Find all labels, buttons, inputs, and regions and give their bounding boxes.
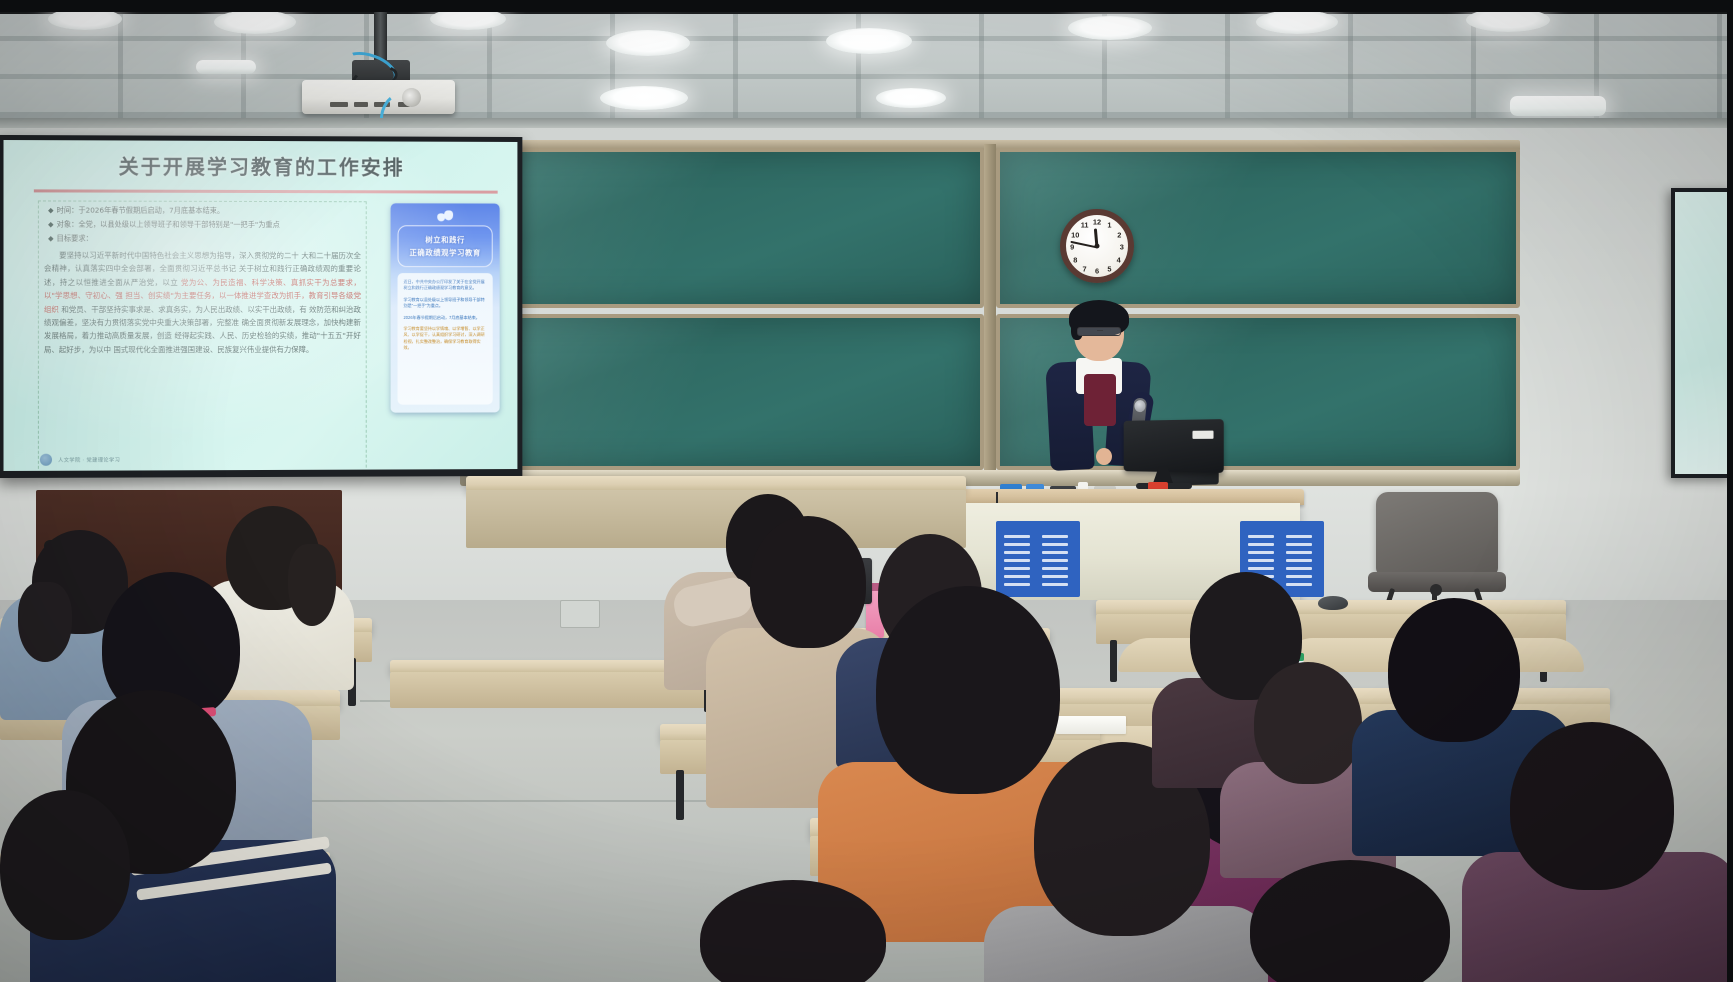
- clock-num-10: 10: [1071, 230, 1079, 239]
- clock-num-6: 6: [1095, 267, 1099, 276]
- clock-num-2: 2: [1117, 230, 1121, 239]
- wall-control-panel[interactable]: [560, 600, 600, 628]
- slide-paragraph: 要坚持以习近平新时代中国特色社会主义思想为指导，深入贯彻党的二十 大和二十届历次…: [44, 249, 361, 357]
- projector-port-1: [330, 102, 348, 107]
- podium-monitor: [1124, 419, 1224, 473]
- blackboard-panel-upper-left: [460, 148, 984, 308]
- attendee-head: [0, 790, 130, 940]
- slide-bullet-2: ◆对象：全党，以县处级以上领导班子和领导干部特别是"一把手"为重点: [48, 219, 367, 232]
- lecture-hall-photo: 12 1 2 3 4 5 6 7 8 9 10 11 关于开展学习教育的工作安排…: [0, 0, 1733, 982]
- bullet-marker-1: ◆: [48, 205, 54, 214]
- presenter-sweater: [1084, 374, 1116, 426]
- slide-title: 关于开展学习教育的工作安排: [4, 150, 518, 181]
- ceiling-light-6: [826, 28, 912, 54]
- bullet-marker-3: ◆: [48, 234, 54, 243]
- clock-num-3: 3: [1120, 243, 1124, 252]
- attendee-bottom-center: [700, 880, 920, 982]
- para-line-10: 国式现代化全面推进强国建设、民族复兴伟业提供有力保障。: [113, 345, 313, 354]
- ceiling-light-8: [1068, 16, 1152, 40]
- card-para-2: 学习教育以县处级以上领导班子和领导干部特别是"一把手"为重点。: [404, 297, 487, 310]
- ceiling-light-12: [196, 60, 256, 74]
- projector-port-2: [354, 102, 368, 107]
- card-para-3: 2026年春节假期后启动，7月底基本结束。: [404, 315, 487, 321]
- slide-title-underline: [34, 189, 498, 193]
- ceiling-light-9: [1256, 10, 1338, 34]
- card-body: 近日，中共中央办公厅印发了关于在全党开展树立和践行正确政绩观学习教育的意见。 学…: [398, 273, 493, 405]
- para-line-1: 要坚持以习近平新时代中国特色社会主义思想为指导，深入贯彻党的二十: [59, 251, 299, 260]
- attendee-head: [1250, 860, 1450, 982]
- bullet-marker-2: ◆: [48, 220, 54, 229]
- secondary-projection-screen: [1671, 188, 1733, 478]
- secondary-screen-surface: [1675, 192, 1733, 474]
- slide-bullet-list: ◆时间：于2026年春节假期后启动，7月底基本结束。 ◆对象：全党，以县处级以上…: [48, 204, 367, 247]
- bullet-text-3: 目标要求：: [57, 234, 93, 243]
- clock-num-5: 5: [1107, 264, 1111, 273]
- ceiling-light-4: [606, 30, 690, 56]
- attendee-far-right: [1462, 722, 1733, 982]
- ceiling-light-7: [876, 88, 946, 108]
- blackboard-panel-lower-left: [460, 314, 984, 470]
- wall-clock: 12 1 2 3 4 5 6 7 8 9 10 11: [1060, 209, 1134, 283]
- bullet-text-2: 对象：全党，以县处级以上领导班子和领导干部特别是"一把手"为重点: [57, 220, 280, 229]
- clock-num-7: 7: [1083, 264, 1087, 273]
- slide-footer-text: 人文学院 · 党建理论学习: [58, 456, 120, 463]
- ceiling-beam-2: [0, 74, 1733, 79]
- monitor-label-sticker: [1192, 431, 1213, 439]
- attendee-left-edge: [0, 790, 150, 982]
- attendee-head: [1388, 598, 1520, 742]
- ceiling-projector: [302, 80, 455, 114]
- ceiling-light-11: [1510, 96, 1606, 116]
- card-heading: 树立和践行 正确政绩观学习教育: [398, 225, 493, 267]
- presenter-left-hand: [1096, 448, 1112, 465]
- wall-top-molding: [0, 118, 1733, 128]
- card-heading-line-1: 树立和践行: [425, 234, 465, 245]
- clock-num-4: 4: [1117, 255, 1121, 264]
- clock-center-pin: [1095, 244, 1100, 249]
- blackboard-center-divider: [984, 144, 996, 474]
- clock-num-12: 12: [1093, 217, 1101, 226]
- slide-bullet-3: ◆目标要求：: [48, 233, 367, 246]
- slide-content: 关于开展学习教育的工作安排 ◆时间：于2026年春节假期后启动，7月底基本结束。…: [4, 140, 518, 471]
- attendee-head: [1510, 722, 1674, 890]
- attendee-head: [700, 880, 886, 982]
- ceiling-light-5: [600, 86, 688, 110]
- institution-seal-icon: [40, 454, 52, 466]
- attendee-bottom-right: [1250, 860, 1490, 982]
- clock-num-1: 1: [1107, 220, 1111, 229]
- photo-right-border: [1727, 0, 1733, 982]
- clock-minute-hand: [1070, 240, 1097, 248]
- bullet-text-1: 时间：于2026年春节假期后启动，7月底基本结束。: [57, 206, 225, 215]
- slide-bullet-1: ◆时间：于2026年春节假期后启动，7月底基本结束。: [48, 204, 367, 217]
- card-para-1: 近日，中共中央办公厅印发了关于在全党开展树立和践行正确政绩观学习教育的意见。: [404, 279, 487, 292]
- card-para-4: 学习教育要坚持以学铸魂、以学增智、以学正风、以学促干，认真组织学习研讨，深入调研…: [404, 326, 487, 352]
- slide-side-card: 树立和践行 正确政绩观学习教育 近日，中共中央办公厅印发了关于在全党开展树立和践…: [391, 203, 500, 412]
- hands-emblem-icon: [437, 210, 453, 222]
- attendee-head: [1254, 662, 1362, 784]
- desk-leg-d1: [676, 770, 684, 820]
- para-line-6: 和党员、干部坚持实事求是、求真务实，为人民出政绩、以实干出政绩，有: [61, 305, 306, 314]
- slide-footer: 人文学院 · 党建理论学习: [40, 453, 120, 465]
- office-chair-back: [1376, 492, 1498, 576]
- clock-num-9: 9: [1070, 243, 1074, 252]
- photo-top-border: [0, 0, 1733, 12]
- ceiling-light-2: [214, 10, 296, 34]
- clock-num-11: 11: [1081, 220, 1089, 229]
- blackboard-assembly: [460, 140, 1520, 480]
- card-heading-line-2: 正确政绩观学习教育: [409, 247, 480, 258]
- projection-screen: 关于开展学习教育的工作安排 ◆时间：于2026年春节假期后启动，7月底基本结束。…: [0, 135, 522, 478]
- clock-num-8: 8: [1073, 255, 1077, 264]
- presenter-glasses: [1077, 327, 1121, 336]
